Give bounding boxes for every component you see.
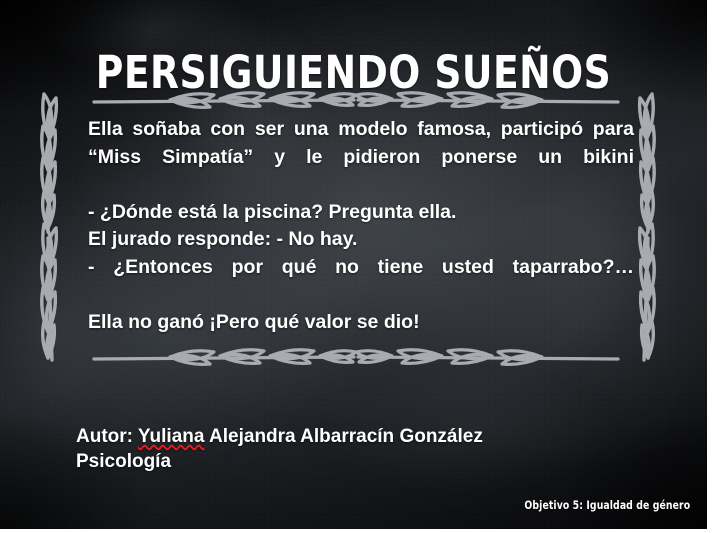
story-paragraph-2: - ¿Dónde está la piscina? Pregunta ella. [88, 199, 634, 227]
page-title: PERSIGUIENDO SUEÑOS [25, 48, 683, 98]
author-program: Psicología [76, 449, 636, 474]
story-paragraph-1: Ella soñaba con ser una modelo famosa, p… [88, 116, 634, 199]
author-name-misspelled: Yuliana [138, 426, 205, 447]
story-paragraph-4: - ¿Entonces por qué no tiene usted tapar… [88, 254, 634, 309]
author-name-rest: Alejandra Albarracín González [204, 426, 482, 447]
author-line: Autor: Yuliana Alejandra Albarracín Gonz… [76, 424, 636, 449]
presentation-slide: PERSIGUIENDO SUEÑOS [0, 0, 712, 533]
story-text-block: Ella soñaba con ser una modelo famosa, p… [88, 116, 634, 336]
author-label: Autor: [76, 426, 138, 447]
story-paragraph-5: Ella no ganó ¡Pero qué valor se dio! [88, 309, 634, 337]
story-paragraph-3: El jurado responde: - No hay. [88, 226, 634, 254]
footer-objective: Objetivo 5: Igualdad de género [524, 498, 690, 512]
author-block: Autor: Yuliana Alejandra Albarracín Gonz… [76, 424, 636, 474]
